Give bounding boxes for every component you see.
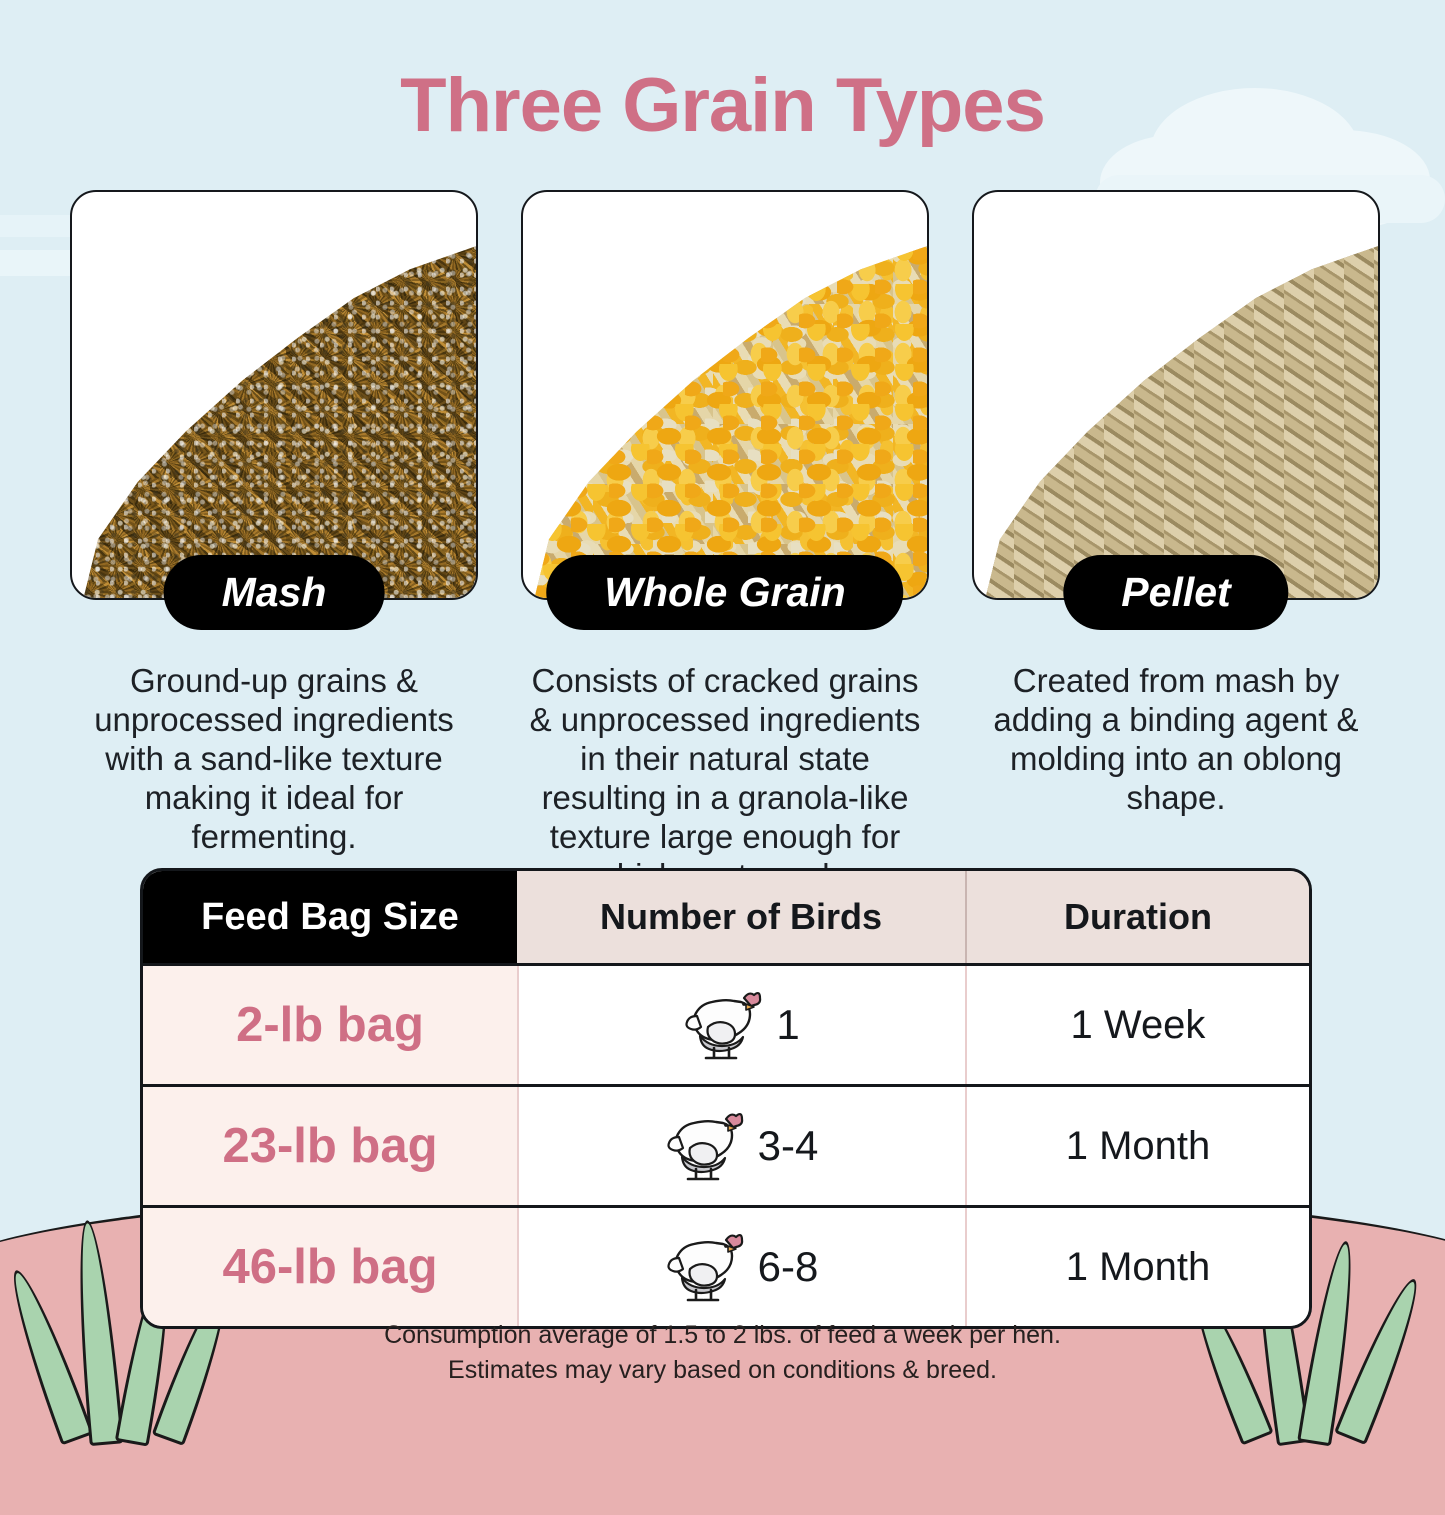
cell-duration: 1 Month: [967, 1208, 1309, 1326]
mash-grain-photo: [70, 190, 478, 600]
table-row: 2-lb bag 1 1 Week: [143, 963, 1309, 1084]
header-duration: Duration: [967, 871, 1309, 963]
grain-description-mash: Ground-up grains & unprocessed ingredien…: [70, 662, 478, 857]
header-feed-bag-size: Feed Bag Size: [143, 871, 517, 963]
cell-number-of-birds: 1: [517, 966, 967, 1084]
duration-label: 1 Month: [1066, 1124, 1211, 1169]
bag-size-label: 23-lb bag: [222, 1118, 437, 1174]
page-title: Three Grain Types: [0, 62, 1445, 149]
duration-label: 1 Week: [1071, 1003, 1206, 1048]
cell-duration: 1 Week: [967, 966, 1309, 1084]
grain-cards-row: Mash Ground-up grains & unprocessed ingr…: [70, 190, 1380, 896]
duration-label: 1 Month: [1066, 1245, 1211, 1290]
grain-description-pellet: Created from mash by adding a binding ag…: [972, 662, 1380, 818]
mash-pile-graphic: [82, 244, 478, 600]
grain-badge-pellet: Pellet: [1063, 555, 1288, 630]
cell-bag-size: 46-lb bag: [143, 1208, 517, 1326]
birds-count: 6-8: [758, 1243, 819, 1291]
cell-bag-size: 23-lb bag: [143, 1087, 517, 1205]
grain-card-mash: Mash Ground-up grains & unprocessed ingr…: [70, 190, 478, 896]
birds-count: 3-4: [758, 1122, 819, 1170]
grain-badge-mash: Mash: [164, 555, 385, 630]
pellet-pile-graphic: [984, 244, 1380, 600]
table-row: 46-lb bag 6-8 1 Month: [143, 1205, 1309, 1326]
grain-card-pellet: Pellet Created from mash by adding a bin…: [972, 190, 1380, 896]
bag-size-label: 46-lb bag: [222, 1239, 437, 1295]
birds-group: 1: [684, 988, 799, 1062]
chicken-icon: [684, 988, 762, 1062]
footnote: Consumption average of 1.5 to 2 lbs. of …: [0, 1318, 1445, 1387]
footnote-line-2: Estimates may vary based on conditions &…: [0, 1353, 1445, 1388]
cell-number-of-birds: 6-8: [517, 1208, 967, 1326]
chicken-icon: [666, 1109, 744, 1183]
whole-grain-pile-graphic: [533, 244, 929, 600]
grain-badge-whole-grain: Whole Grain: [546, 555, 903, 630]
cell-number-of-birds: 3-4: [517, 1087, 967, 1205]
grain-description-whole-grain: Consists of cracked grains & unprocessed…: [521, 662, 929, 896]
chicken-icon: [666, 1230, 744, 1304]
birds-group: 6-8: [666, 1230, 819, 1304]
grain-card-whole-grain: Whole Grain Consists of cracked grains &…: [521, 190, 929, 896]
cell-bag-size: 2-lb bag: [143, 966, 517, 1084]
table-row: 23-lb bag 3-4 1 Month: [143, 1084, 1309, 1205]
table-header-row: Feed Bag Size Number of Birds Duration: [143, 871, 1309, 963]
header-number-of-birds: Number of Birds: [517, 871, 967, 963]
cell-duration: 1 Month: [967, 1087, 1309, 1205]
feed-bag-table: Feed Bag Size Number of Birds Duration 2…: [140, 868, 1312, 1329]
birds-count: 1: [776, 1001, 799, 1049]
bag-size-label: 2-lb bag: [236, 997, 424, 1053]
pellet-grain-photo: [972, 190, 1380, 600]
footnote-line-1: Consumption average of 1.5 to 2 lbs. of …: [0, 1318, 1445, 1353]
birds-group: 3-4: [666, 1109, 819, 1183]
whole-grain-photo: [521, 190, 929, 600]
